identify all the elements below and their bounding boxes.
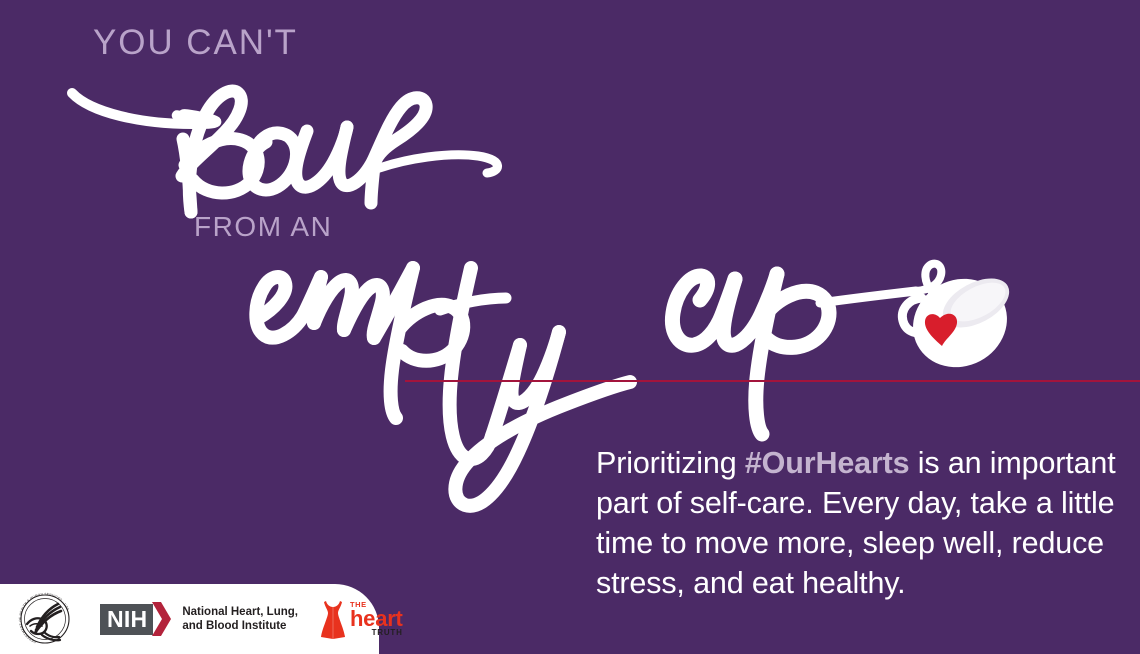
kicker-line-you-cant: YOU CAN'T (93, 23, 298, 63)
body-lead-text: Prioritizing (596, 446, 745, 480)
heart-truth-wordmark: THE heart TRUTH (350, 601, 403, 637)
script-word-pour (72, 91, 498, 212)
cup-interior (944, 275, 1011, 330)
the-heart-truth-logo: THE heart TRUTH (320, 598, 403, 640)
nih-chevron-icon (152, 602, 171, 636)
hhs-logo: DEPARTMENT OF HEALTH & HUMAN SERVICES · … (14, 591, 76, 647)
heart-icon (925, 314, 957, 346)
script-word-cup (672, 274, 916, 434)
kicker-line-from-an: FROM AN (194, 211, 332, 243)
cup-hook-icon (916, 264, 953, 318)
poster-canvas: YOU CAN'T FROM AN (0, 0, 1140, 654)
heart-truth-heart: heart (350, 608, 403, 630)
nih-wordmark: NIH (100, 604, 153, 635)
nih-nhlbi-logo: NIH National Heart, Lung, and Blood Inst… (100, 602, 298, 636)
hhs-seal-icon: DEPARTMENT OF HEALTH & HUMAN SERVICES · … (14, 591, 76, 647)
nhlbi-name-line-1: National Heart, Lung, (182, 606, 298, 618)
red-divider-rule (405, 380, 1140, 382)
hashtag-ourhearts: #OurHearts (745, 446, 910, 480)
cup-rim (935, 268, 1017, 337)
cup-body (897, 262, 1022, 383)
body-paragraph: Prioritizing #OurHearts is an important … (596, 443, 1120, 603)
nhlbi-name-line-2: and Blood Institute (182, 620, 286, 632)
script-word-empty (256, 268, 630, 506)
red-dress-icon (320, 598, 346, 640)
cup-handle (902, 298, 927, 333)
coffee-cup-illustration (897, 262, 1022, 383)
nhlbi-name: National Heart, Lung, and Blood Institut… (182, 605, 298, 633)
logo-panel: DEPARTMENT OF HEALTH & HUMAN SERVICES · … (0, 584, 379, 654)
